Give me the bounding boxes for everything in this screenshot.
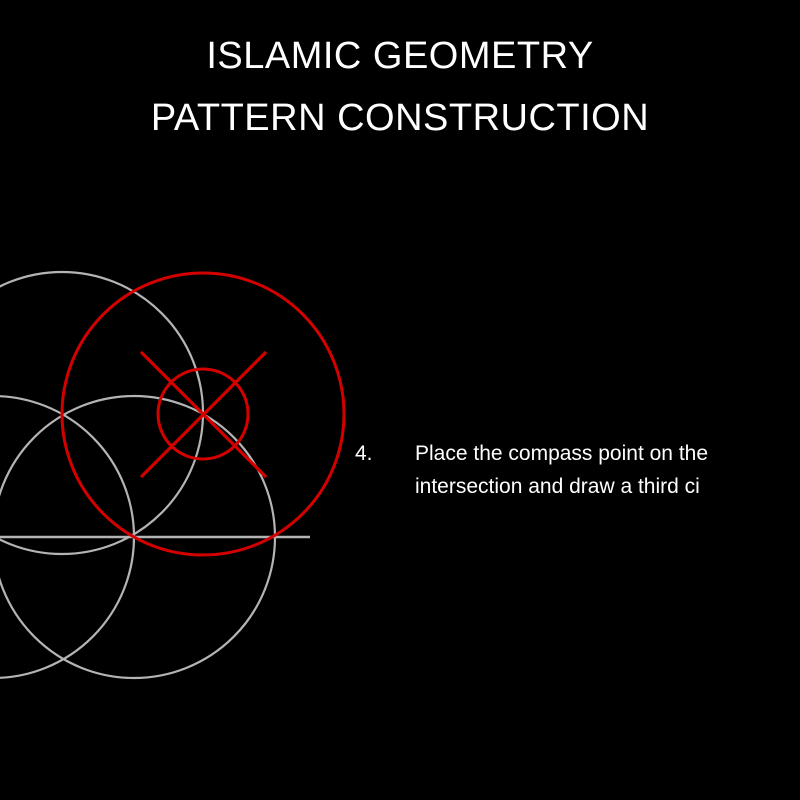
slide-canvas: ISLAMIC GEOMETRY PATTERN CONSTRUCTION 4.… <box>0 0 800 800</box>
step-text-line-1: Place the compass point on the <box>415 438 800 471</box>
step-text: Place the compass point on the intersect… <box>415 438 800 503</box>
step-text-line-2: intersection and draw a third ci <box>415 471 800 504</box>
step-row: 4. Place the compass point on the inters… <box>355 438 800 503</box>
step-number: 4. <box>355 438 415 471</box>
geometry-construction-figure <box>0 0 800 800</box>
step-instruction: 4. Place the compass point on the inters… <box>355 438 800 503</box>
